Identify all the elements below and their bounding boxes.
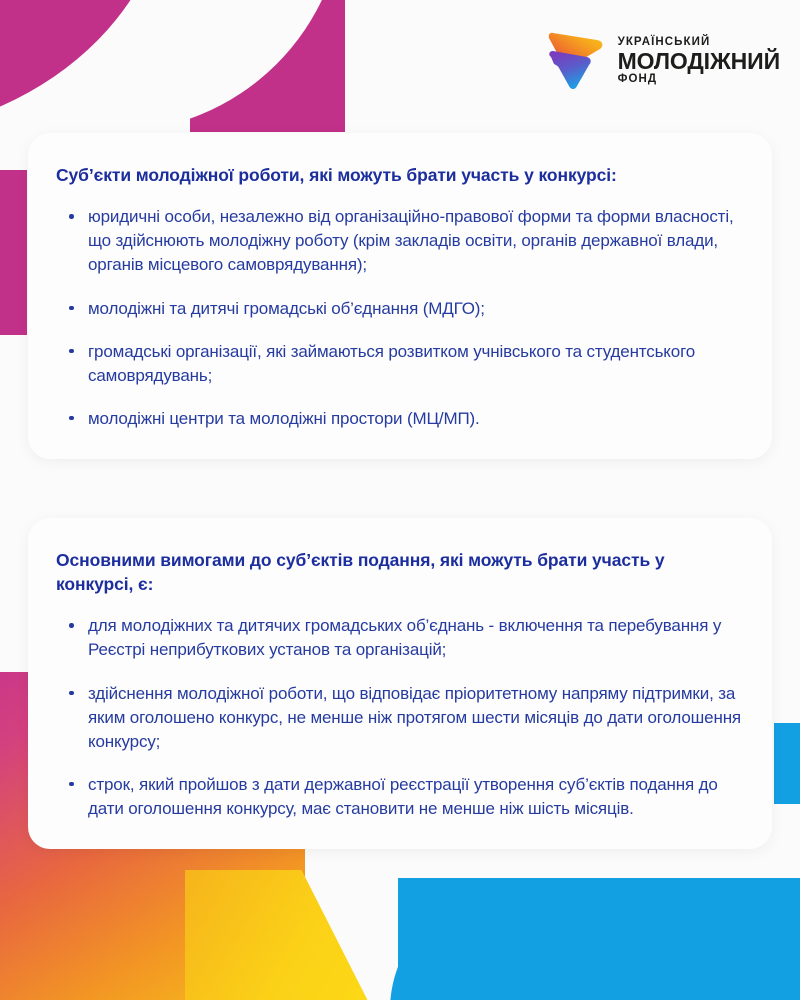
logo-line-youth: МОЛОДІЖНИЙ — [618, 50, 780, 73]
list-item: строк, який пройшов з дати державної реє… — [56, 773, 742, 821]
card-main-requirements: Основними вимогами до суб’єктів подання,… — [28, 518, 772, 849]
bullet-dot-icon — [69, 306, 74, 311]
list-item: молодіжні та дитячі громадські об’єднанн… — [56, 297, 742, 321]
bullet-dot-icon — [69, 782, 74, 787]
list-item: молодіжні центри та молодіжні простори (… — [56, 407, 742, 431]
card-heading: Суб’єкти молодіжної роботи, які можуть б… — [56, 163, 742, 187]
card-heading: Основними вимогами до суб’єктів подання,… — [56, 548, 742, 596]
list-item: юридичні особи, незалежно від організаці… — [56, 205, 742, 277]
list-item-text: молодіжні та дитячі громадські об’єднанн… — [88, 299, 485, 318]
content-area: Суб’єкти молодіжної роботи, які можуть б… — [0, 0, 800, 1000]
logo: УКРАЇНСЬКИЙ МОЛОДІЖНИЙ ФОНД — [547, 24, 780, 94]
bullet-list: юридичні особи, незалежно від організаці… — [56, 205, 742, 431]
list-item-text: юридичні особи, незалежно від організаці… — [88, 207, 734, 274]
logo-wordmark: УКРАЇНСЬКИЙ МОЛОДІЖНИЙ ФОНД — [618, 33, 780, 85]
bullet-dot-icon — [69, 214, 74, 219]
list-item-text: здійснення молодіжної роботи, що відпові… — [88, 684, 741, 751]
list-item: для молодіжних та дитячих громадських об… — [56, 614, 742, 662]
list-item-text: строк, який пройшов з дати державної реє… — [88, 775, 718, 818]
list-item: здійснення молодіжної роботи, що відпові… — [56, 682, 742, 754]
list-item-text: громадські організації, які займаються р… — [88, 342, 695, 385]
bullet-dot-icon — [69, 623, 74, 628]
list-item: громадські організації, які займаються р… — [56, 340, 742, 388]
logo-line-fund: ФОНД — [618, 74, 780, 86]
logo-line-ukrainian: УКРАЇНСЬКИЙ — [618, 37, 780, 49]
bullet-dot-icon — [69, 416, 74, 421]
list-item-text: молодіжні центри та молодіжні простори (… — [88, 409, 480, 428]
list-item-text: для молодіжних та дитячих громадських об… — [88, 616, 721, 659]
bullet-dot-icon — [69, 691, 74, 696]
card-eligible-subjects: Суб’єкти молодіжної роботи, які можуть б… — [28, 133, 772, 459]
bullet-list: для молодіжних та дитячих громадських об… — [56, 614, 742, 821]
bullet-dot-icon — [69, 349, 74, 354]
ukrainian-youth-fund-logo-mark-icon — [547, 24, 609, 94]
